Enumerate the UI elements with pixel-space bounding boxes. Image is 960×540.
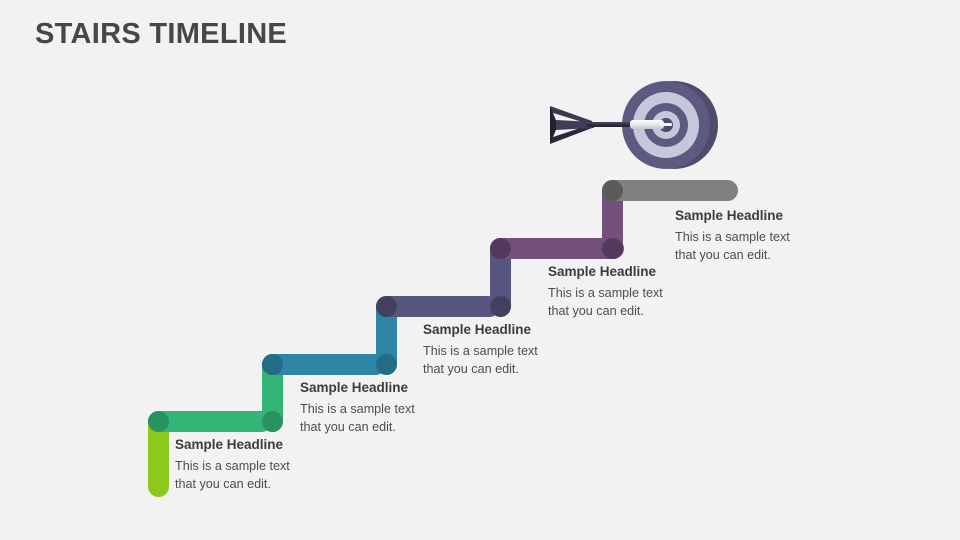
step-5-headline: Sample Headline bbox=[675, 208, 790, 225]
dart-tip bbox=[660, 123, 672, 126]
step-5-body-line-1: This is a sample text bbox=[675, 228, 790, 246]
step-3-headline: Sample Headline bbox=[423, 322, 538, 339]
step-4-label: Sample Headline This is a sample text th… bbox=[548, 264, 663, 320]
step-2-left-cap bbox=[262, 354, 283, 375]
step-4-body-line-1: This is a sample text bbox=[548, 284, 663, 302]
step-4-body-line-2: that you can edit. bbox=[548, 302, 663, 320]
step-2-riser-bottom-cap bbox=[262, 411, 283, 432]
step-3-riser-bottom-cap bbox=[376, 354, 397, 375]
step-1-left-cap bbox=[148, 411, 169, 432]
target-with-dart-icon bbox=[548, 78, 720, 178]
step-4-left-cap bbox=[490, 238, 511, 259]
page-title: STAIRS TIMELINE bbox=[35, 18, 287, 51]
step-5-left-cap bbox=[602, 180, 623, 201]
step-2-body-line-2: that you can edit. bbox=[300, 418, 415, 436]
step-2-label: Sample Headline This is a sample text th… bbox=[300, 380, 415, 436]
step-5-label: Sample Headline This is a sample text th… bbox=[675, 208, 790, 264]
dart-shaft bbox=[586, 122, 636, 127]
slide-canvas: STAIRS TIMELINE Sample Headline This is … bbox=[0, 0, 960, 540]
step-3-left-cap bbox=[376, 296, 397, 317]
step-5-body-line-2: that you can edit. bbox=[675, 246, 790, 264]
step-3-body-line-2: that you can edit. bbox=[423, 360, 538, 378]
step-1-label: Sample Headline This is a sample text th… bbox=[175, 437, 290, 493]
step-5-riser-bottom-cap bbox=[602, 238, 623, 259]
step-1-headline: Sample Headline bbox=[175, 437, 290, 454]
step-3-label: Sample Headline This is a sample text th… bbox=[423, 322, 538, 378]
step-1-body-line-1: This is a sample text bbox=[175, 457, 290, 475]
step-1-body-line-2: that you can edit. bbox=[175, 475, 290, 493]
step-2-headline: Sample Headline bbox=[300, 380, 415, 397]
step-3-body-line-1: This is a sample text bbox=[423, 342, 538, 360]
step-2-body-line-1: This is a sample text bbox=[300, 400, 415, 418]
step-4-headline: Sample Headline bbox=[548, 264, 663, 281]
step-4-riser-bottom-cap bbox=[490, 296, 511, 317]
dart-barrel bbox=[630, 120, 664, 129]
